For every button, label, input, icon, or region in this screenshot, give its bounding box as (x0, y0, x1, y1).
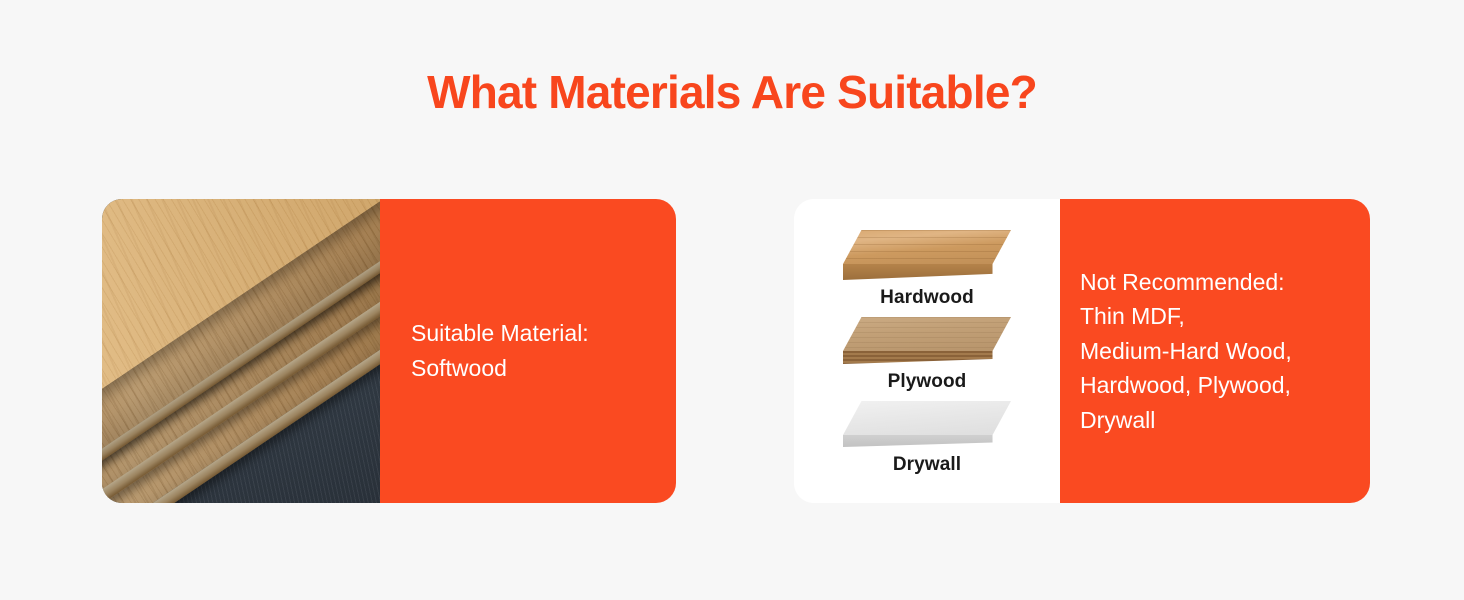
suitable-material-card[interactable]: Suitable Material: Softwood (102, 199, 676, 503)
suitable-material-text: Suitable Material: Softwood (411, 316, 589, 386)
softwood-photo (102, 199, 380, 503)
suitable-material-text-pane: Suitable Material: Softwood (380, 199, 676, 503)
hardwood-slab-icon (843, 230, 1011, 280)
list-item: Plywood (794, 317, 1060, 393)
list-item: Hardwood (794, 230, 1060, 309)
drywall-slab-icon (843, 401, 1011, 447)
sample-label-hardwood: Hardwood (880, 287, 974, 309)
not-recommended-text: Not Recommended: Thin MDF, Medium-Hard W… (1080, 265, 1292, 438)
sample-label-plywood: Plywood (888, 371, 967, 393)
material-samples-list: Hardwood Plywood Drywall (794, 199, 1060, 503)
list-item: Drywall (794, 401, 1060, 476)
plywood-slab-icon (843, 317, 1011, 364)
sample-label-drywall: Drywall (893, 454, 961, 476)
not-recommended-card[interactable]: Hardwood Plywood Drywall Not Recommended… (794, 199, 1370, 503)
not-recommended-text-pane: Not Recommended: Thin MDF, Medium-Hard W… (1060, 199, 1370, 503)
material-cards-row: Suitable Material: Softwood Hardwood Ply… (0, 199, 1464, 504)
page-title: What Materials Are Suitable? (0, 66, 1464, 119)
